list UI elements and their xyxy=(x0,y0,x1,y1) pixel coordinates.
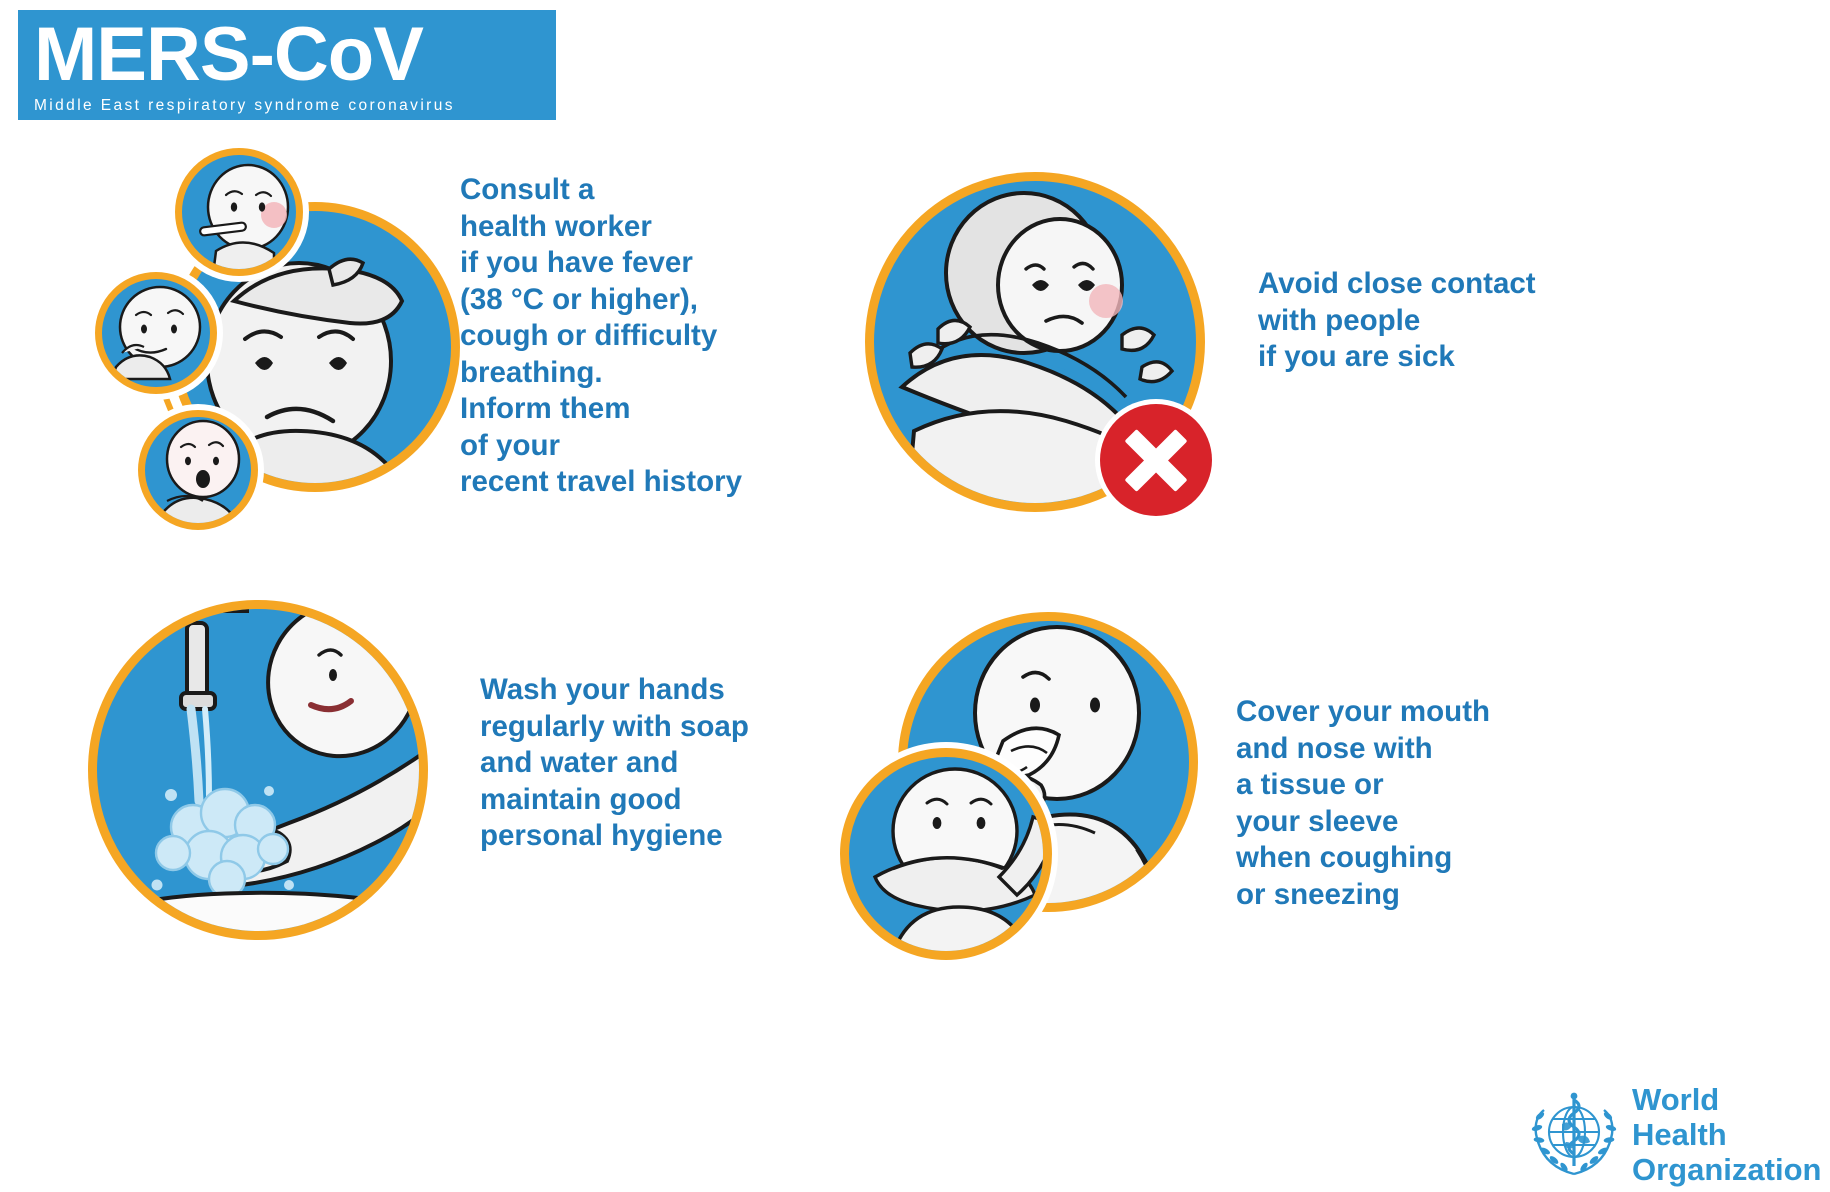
title-banner: MERS-CoV Middle East respiratory syndrom… xyxy=(18,10,556,120)
bubble-cough-icon xyxy=(138,410,258,530)
caption-wash-your-hands: Wash your hands regularly with soap and … xyxy=(480,672,749,855)
who-logo-line1: World Health xyxy=(1632,1082,1821,1152)
bubble-sneeze-into-elbow-icon xyxy=(840,748,1052,960)
prohibition-x-icon xyxy=(1100,404,1212,516)
poster-title: MERS-CoV xyxy=(34,14,546,96)
infographic-poster: MERS-CoV Middle East respiratory syndrom… xyxy=(0,0,1830,1192)
who-emblem-icon xyxy=(1528,1088,1620,1180)
caption-consult-health-worker: Consult a health worker if you have feve… xyxy=(460,172,742,501)
bubble-thermometer-icon xyxy=(175,148,303,276)
bubble-sneeze-tissue-icon xyxy=(95,272,217,394)
poster-subtitle: Middle East respiratory syndrome coronav… xyxy=(34,96,546,116)
who-logo-line2: Organization xyxy=(1632,1152,1821,1187)
who-logo-text: World Health Organization xyxy=(1632,1082,1821,1187)
illustration-washing-hands xyxy=(88,600,428,940)
caption-avoid-close-contact: Avoid close contact with people if you a… xyxy=(1258,266,1536,376)
who-logo: World Health Organization xyxy=(1528,1086,1814,1182)
caption-cover-mouth-and-nose: Cover your mouth and nose with a tissue … xyxy=(1236,694,1490,913)
